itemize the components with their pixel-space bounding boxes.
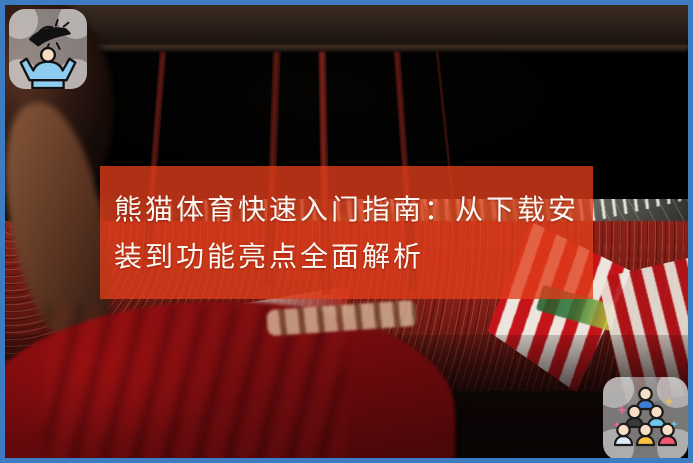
roof-beam-edge (5, 45, 688, 52)
roof-beam (5, 5, 688, 49)
watermark-top-left (9, 9, 87, 89)
person-cheering-icon (9, 9, 87, 89)
team-pyramid-icon (603, 377, 688, 460)
page-title: 熊猫体育快速入门指南：从下载安装到功能亮点全面解析 (100, 186, 593, 280)
title-banner: 熊猫体育快速入门指南：从下载安装到功能亮点全面解析 (100, 166, 593, 299)
cover-image: 熊猫体育快速入门指南：从下载安装到功能亮点全面解析 (0, 0, 693, 463)
watermark-bottom-right (603, 377, 688, 460)
